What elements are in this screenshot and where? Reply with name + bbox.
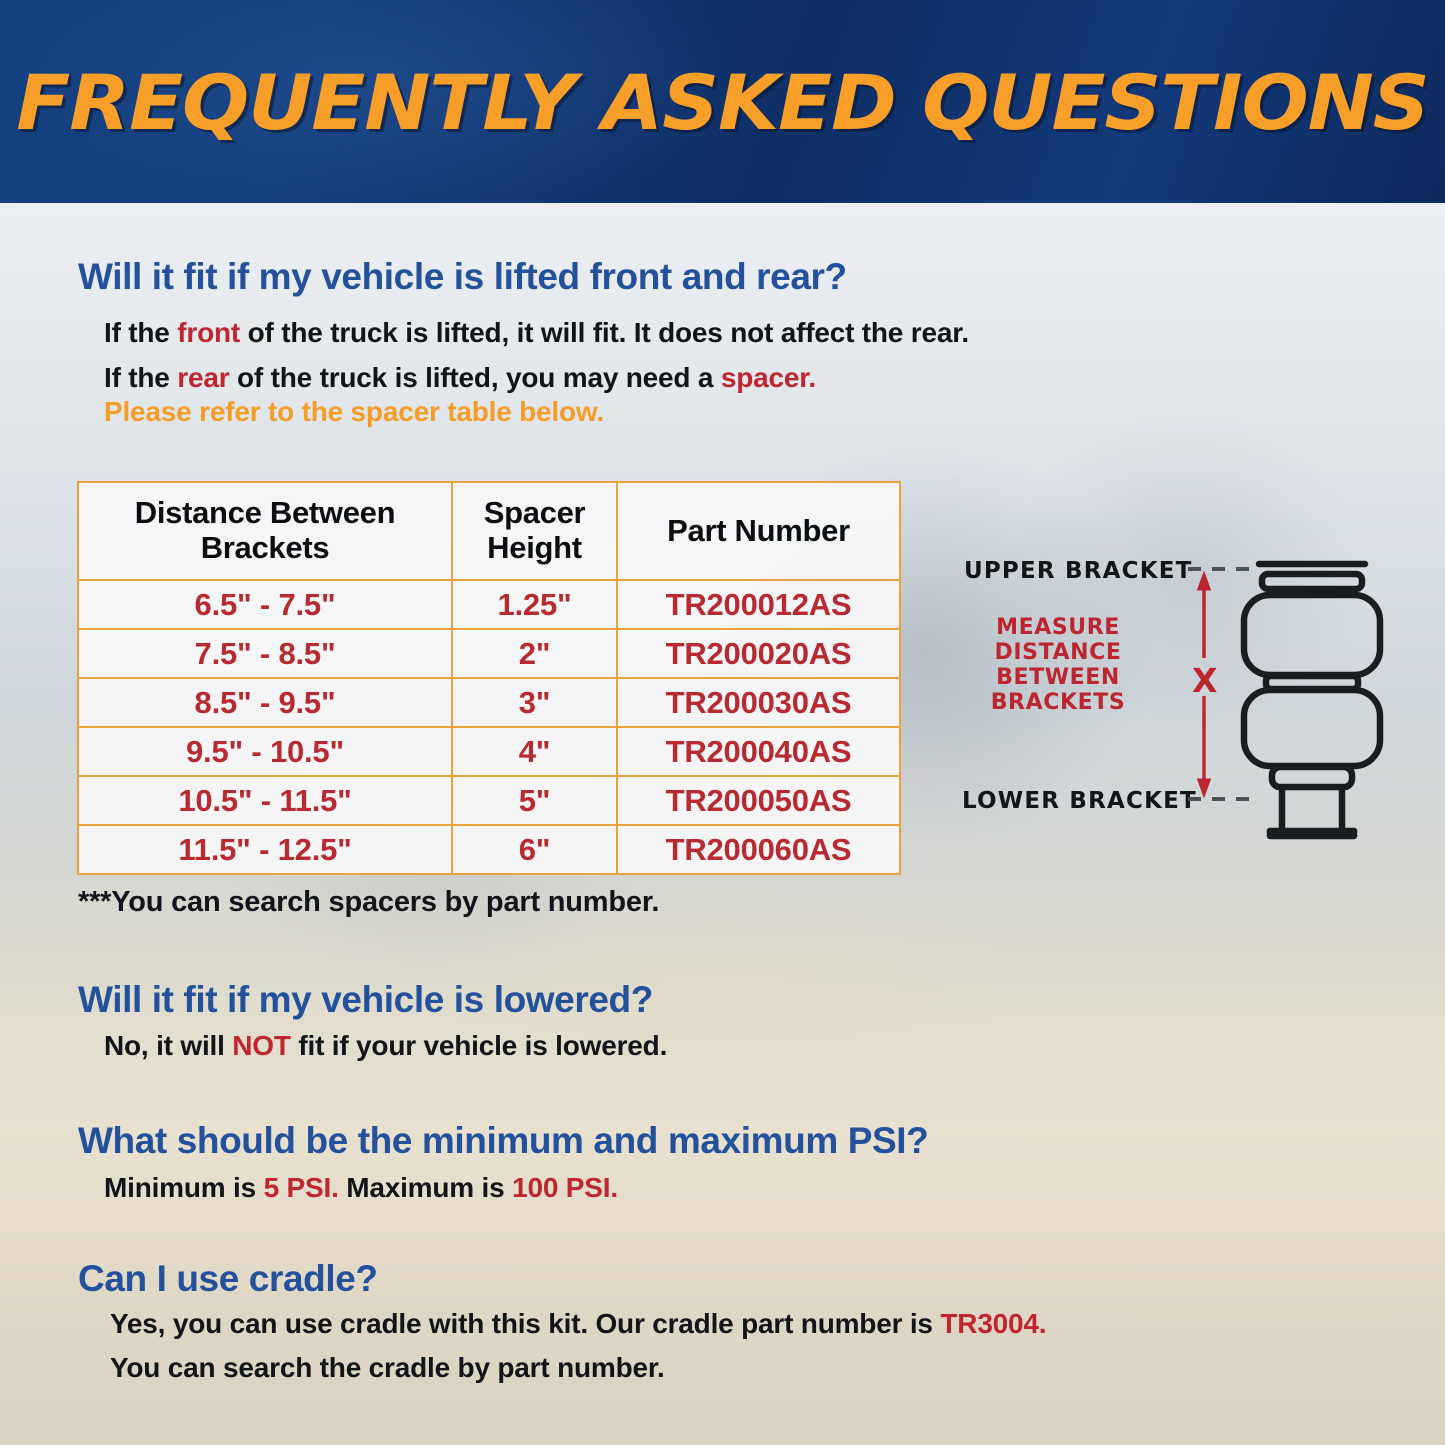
table-row: 11.5" - 12.5" 6" TR200060AS (78, 825, 900, 874)
faq-question-2: Will it fit if my vehicle is lowered? (78, 979, 653, 1021)
answer-highlight-spacer: spacer. (721, 362, 816, 393)
answer-text: No, it will (104, 1030, 232, 1061)
table-header-part-number: Part Number (617, 482, 900, 580)
cell-part-number: TR200012AS (617, 580, 900, 629)
table-row: 7.5" - 8.5" 2" TR200020AS (78, 629, 900, 678)
cell-spacer-height: 5" (452, 776, 617, 825)
cell-distance: 8.5" - 9.5" (78, 678, 452, 727)
cell-distance: 10.5" - 11.5" (78, 776, 452, 825)
faq-answer-3-line-1: Minimum is 5 PSI. Maximum is 100 PSI. (104, 1172, 618, 1204)
answer-highlight-min-psi: 5 PSI. (264, 1172, 339, 1203)
cell-spacer-height: 6" (452, 825, 617, 874)
table-header-row: Distance Between Brackets Spacer Height … (78, 482, 900, 580)
answer-text: Minimum is (104, 1172, 264, 1203)
answer-text: Maximum is (339, 1172, 512, 1203)
cell-part-number: TR200040AS (617, 727, 900, 776)
header-banner: FREQUENTLY ASKED QUESTIONS (0, 0, 1445, 203)
faq-page: FREQUENTLY ASKED QUESTIONS Will it fit i… (0, 0, 1445, 1445)
cell-distance: 6.5" - 7.5" (78, 580, 452, 629)
faq-question-3: What should be the minimum and maximum P… (78, 1120, 928, 1162)
answer-text: If the (104, 362, 177, 393)
table-row: 9.5" - 10.5" 4" TR200040AS (78, 727, 900, 776)
table-row: 8.5" - 9.5" 3" TR200030AS (78, 678, 900, 727)
faq-answer-1-line-3: Please refer to the spacer table below. (104, 396, 604, 428)
faq-answer-4-line-2: You can search the cradle by part number… (110, 1352, 665, 1384)
table-row: 10.5" - 11.5" 5" TR200050AS (78, 776, 900, 825)
spacer-table: Distance Between Brackets Spacer Height … (77, 481, 901, 875)
cell-spacer-height: 4" (452, 727, 617, 776)
cell-spacer-height: 2" (452, 629, 617, 678)
faq-answer-2-line-1: No, it will NOT fit if your vehicle is l… (104, 1030, 667, 1062)
cell-distance: 7.5" - 8.5" (78, 629, 452, 678)
cell-spacer-height: 3" (452, 678, 617, 727)
answer-highlight-cradle-part: TR3004. (940, 1308, 1046, 1339)
diagram-graphics (940, 548, 1410, 840)
answer-highlight-not: NOT (232, 1030, 291, 1061)
faq-answer-1-line-2: If the rear of the truck is lifted, you … (104, 362, 816, 394)
answer-text: of the truck is lifted, you may need a (229, 362, 720, 393)
answer-highlight-rear: rear (177, 362, 229, 393)
spacer-table-footnote: ***You can search spacers by part number… (78, 886, 659, 919)
answer-highlight-front: front (177, 317, 240, 348)
table-row: 6.5" - 7.5" 1.25" TR200012AS (78, 580, 900, 629)
cell-part-number: TR200060AS (617, 825, 900, 874)
cell-distance: 9.5" - 10.5" (78, 727, 452, 776)
air-spring-part-icon (1244, 564, 1380, 836)
faq-question-4: Can I use cradle? (78, 1258, 378, 1300)
dimension-arrow-icon (1198, 572, 1211, 797)
cell-part-number: TR200050AS (617, 776, 900, 825)
faq-answer-4-line-1: Yes, you can use cradle with this kit. O… (110, 1308, 1046, 1340)
faq-question-1: Will it fit if my vehicle is lifted fron… (78, 256, 847, 298)
table-header-distance: Distance Between Brackets (78, 482, 452, 580)
cell-part-number: TR200020AS (617, 629, 900, 678)
cell-distance: 11.5" - 12.5" (78, 825, 452, 874)
answer-text: of the truck is lifted, it will fit. It … (240, 317, 969, 348)
air-spring-measurement-diagram: UPPER BRACKET LOWER BRACKET MEASURE DIST… (940, 548, 1410, 840)
faq-answer-1-line-1: If the front of the truck is lifted, it … (104, 317, 969, 349)
cell-part-number: TR200030AS (617, 678, 900, 727)
answer-text: fit if your vehicle is lowered. (291, 1030, 667, 1061)
answer-text: If the (104, 317, 177, 348)
cell-spacer-height: 1.25" (452, 580, 617, 629)
answer-highlight-max-psi: 100 PSI. (512, 1172, 618, 1203)
table-header-spacer-height: Spacer Height (452, 482, 617, 580)
page-title: FREQUENTLY ASKED QUESTIONS (0, 58, 1445, 147)
answer-text: Yes, you can use cradle with this kit. O… (110, 1308, 940, 1339)
